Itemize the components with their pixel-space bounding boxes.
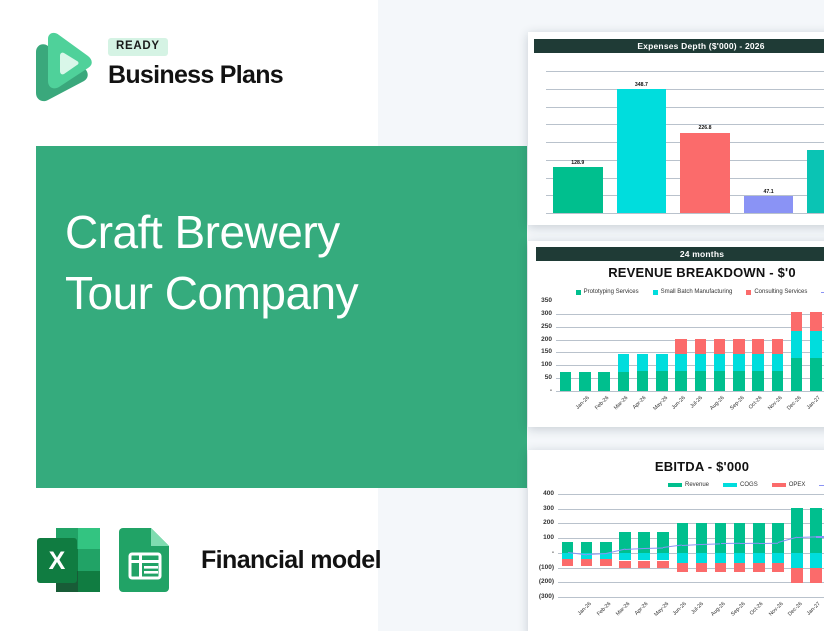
bar-segment <box>772 339 784 354</box>
bar-segment <box>791 508 802 553</box>
x-axis-tick-label: Apr-26 <box>634 601 650 617</box>
bar-segment <box>675 354 687 372</box>
y-axis-tick-label: 350 <box>530 297 552 304</box>
bar-segment <box>733 339 745 354</box>
trend-line-segment <box>644 547 663 549</box>
y-axis-tick-label: 300 <box>529 505 554 512</box>
y-axis-tick-label: 300 <box>530 310 552 317</box>
brand-logo: READY Business Plans <box>26 30 326 108</box>
revenue-chart-title: REVENUE BREAKDOWN - $'0 <box>536 265 824 280</box>
bar-segment <box>810 553 821 568</box>
x-axis-tick-label: Jul-26 <box>691 601 706 616</box>
bar-segment <box>619 561 630 568</box>
bar <box>680 133 730 214</box>
gridline <box>558 538 824 539</box>
bar-segment <box>715 563 726 572</box>
gridline <box>546 89 824 90</box>
bar-segment <box>734 523 745 553</box>
bar-segment <box>752 339 764 354</box>
legend-item: Consulting Services <box>746 289 807 295</box>
y-axis-tick-label: (100) <box>529 564 554 571</box>
legend-label: COGS <box>740 482 758 488</box>
gridline <box>558 568 824 569</box>
bar-segment <box>810 568 821 583</box>
bar-segment <box>791 358 803 391</box>
bar-segment <box>696 563 707 572</box>
trend-line-segment <box>701 543 720 545</box>
excel-file-icon: X <box>36 524 101 596</box>
x-axis-tick-label: Jul-26 <box>689 395 704 410</box>
bar-segment <box>656 371 668 391</box>
bar-segment <box>657 561 668 568</box>
bar-segment <box>714 371 726 391</box>
x-axis-tick-label: Dec-26 <box>787 601 804 618</box>
bar-segment <box>714 354 726 372</box>
gridline <box>558 582 824 583</box>
y-axis-tick-label: 250 <box>530 323 552 330</box>
x-axis-tick-label: Oct-26 <box>748 395 764 411</box>
svg-text:X: X <box>49 547 66 575</box>
expenses-plot-area: 128.9348.7226.847.1176.5 <box>538 59 824 219</box>
legend-label: Small Batch Manufacturing <box>661 289 733 295</box>
x-axis-tick-label: Jan-27 <box>805 395 821 411</box>
gridline <box>558 494 824 495</box>
gridline <box>556 314 824 315</box>
bar-segment <box>618 354 630 372</box>
bar-segment <box>638 532 649 553</box>
bar-segment <box>791 568 802 583</box>
y-axis-tick-label: 200 <box>530 336 552 343</box>
bar-segment <box>637 354 649 372</box>
gridline <box>546 107 824 108</box>
bar-segment <box>791 331 803 358</box>
ebitda-legend: RevenueCOGSOPEX0 <box>668 479 824 491</box>
page-title-line2: Tour Company <box>65 263 505 324</box>
legend-item: Small Batch Manufacturing <box>653 289 733 295</box>
play-logo-icon <box>26 32 92 104</box>
revenue-plot-area: 35030025020015010050-Jan-26Feb-26Mar-26A… <box>556 299 824 399</box>
bar-segment <box>753 563 764 572</box>
x-axis-tick-label: Sep-26 <box>729 395 746 412</box>
bar-segment <box>677 563 688 572</box>
y-axis-tick-label: 100 <box>530 361 552 368</box>
bar-segment <box>581 542 592 553</box>
bar-segment <box>619 553 630 561</box>
gridline <box>558 597 824 598</box>
y-axis-tick-label: (200) <box>529 578 554 585</box>
bar-segment <box>753 523 764 553</box>
legend-label: Prototyping Services <box>584 289 639 295</box>
bar-segment <box>810 312 822 331</box>
legend-item: 0 <box>819 482 824 488</box>
bar-value-label: 176.5 <box>807 143 824 149</box>
y-axis-tick-label: 200 <box>529 519 554 526</box>
bar-segment <box>772 523 783 553</box>
bar-segment <box>715 553 726 563</box>
bar-segment <box>733 371 745 391</box>
y-axis-tick-label: (300) <box>529 593 554 600</box>
bar <box>807 150 824 213</box>
y-axis-tick-label: 150 <box>530 348 552 355</box>
x-axis-tick-label: Nov-26 <box>767 395 784 412</box>
x-axis-tick-label: Mar-26 <box>613 395 629 411</box>
gridline <box>546 71 824 72</box>
bar-segment <box>600 559 611 565</box>
bar-segment <box>772 553 783 563</box>
bar-segment <box>734 553 745 563</box>
trend-line-segment <box>816 536 824 537</box>
bar-segment <box>638 553 649 561</box>
bar-segment <box>677 553 688 563</box>
bar-segment <box>791 553 802 568</box>
expenses-chart-header: Expenses Depth ($'000) - 2026 <box>534 39 824 53</box>
ebitda-chart-title: EBITDA - $'000 <box>536 459 824 474</box>
x-axis-tick-label: Jun-26 <box>671 395 687 411</box>
bar-segment <box>696 553 707 563</box>
brand-text-block: READY Business Plans <box>108 36 283 88</box>
x-axis-tick-label: Mar-26 <box>615 601 631 617</box>
chart-card-ebitda: EBITDA - $'000 RevenueCOGSOPEX0 40030020… <box>528 450 824 631</box>
gridline <box>556 352 824 353</box>
y-axis-tick-label: - <box>530 387 552 394</box>
bar-segment <box>810 331 822 358</box>
x-axis-tick-label: Jan-27 <box>806 601 822 617</box>
x-axis-tick-label: Jan-26 <box>576 601 592 617</box>
bar-segment <box>695 354 707 372</box>
brand-name: Business Plans <box>108 63 283 88</box>
bar-segment <box>675 371 687 391</box>
x-axis-tick-label: Jan-26 <box>574 395 590 411</box>
page-title: Craft Brewery Tour Company <box>65 202 505 324</box>
x-axis-tick-label: May-26 <box>653 601 670 618</box>
bar-segment <box>618 372 630 391</box>
bar-segment <box>733 354 745 372</box>
gridline <box>546 213 824 214</box>
gridline <box>556 378 824 379</box>
bar <box>744 196 794 213</box>
gridline <box>556 327 824 328</box>
x-axis-tick-label: Nov-26 <box>768 601 785 618</box>
x-axis-tick-label: Apr-26 <box>632 395 648 411</box>
page-title-line1: Craft Brewery <box>65 206 340 258</box>
legend-swatch <box>772 483 786 487</box>
bar-segment <box>657 553 668 561</box>
gridline <box>558 509 824 510</box>
bar-segment <box>562 559 573 565</box>
bar-value-label: 226.8 <box>680 125 730 131</box>
legend-item: Prototyping Services <box>576 289 639 295</box>
bar-segment <box>638 561 649 568</box>
bar-segment <box>657 532 668 553</box>
bar-segment <box>752 371 764 391</box>
x-axis-tick-label: Feb-26 <box>594 395 610 411</box>
bar-segment <box>656 354 668 372</box>
bar-segment <box>714 339 726 354</box>
bar-segment <box>810 508 821 553</box>
ready-badge: READY <box>108 38 168 56</box>
bar-segment <box>791 312 803 331</box>
bar <box>617 89 667 213</box>
gridline <box>556 365 824 366</box>
bar-segment <box>772 354 784 372</box>
legend-label: OPEX <box>789 482 806 488</box>
bar-segment <box>715 523 726 553</box>
bar-segment <box>772 563 783 572</box>
legend-swatch <box>668 483 682 487</box>
trend-line-segment <box>759 542 778 544</box>
bar-value-label: 348.7 <box>617 82 667 88</box>
x-axis-tick-label: Feb-26 <box>596 601 612 617</box>
bar-value-label: 47.1 <box>744 189 794 195</box>
y-axis-tick-label: 100 <box>529 534 554 541</box>
bar-segment <box>581 559 592 565</box>
legend-swatch <box>723 483 737 487</box>
bar-value-label: 128.9 <box>553 160 603 166</box>
poster-canvas: READY Business Plans Craft Brewery Tour … <box>0 0 824 631</box>
bar-segment <box>560 372 572 391</box>
legend-item: Revenue <box>668 482 709 488</box>
x-axis-tick-label: Oct-26 <box>748 601 764 617</box>
legend-label: Revenue <box>685 482 709 488</box>
revenue-legend: Prototyping ServicesSmall Batch Manufact… <box>548 286 824 298</box>
google-sheets-icon <box>115 524 177 596</box>
bar-segment <box>695 339 707 354</box>
bar-segment <box>753 553 764 563</box>
x-axis-tick-label: May-26 <box>652 395 669 412</box>
gridline <box>558 523 824 524</box>
bar-segment <box>810 358 822 391</box>
bar <box>553 167 603 213</box>
revenue-chart-header: 24 months <box>536 247 824 261</box>
footer-label: Financial model <box>201 546 381 575</box>
bar-segment <box>695 371 707 391</box>
bar-segment <box>598 372 610 391</box>
hero-panel: Craft Brewery Tour Company <box>36 146 527 488</box>
y-axis-tick-label: 50 <box>530 374 552 381</box>
legend-item: OPEX <box>772 482 806 488</box>
x-axis-tick-label: Aug-26 <box>709 395 726 412</box>
bar-segment <box>772 371 784 391</box>
bar-segment <box>675 339 687 354</box>
ebitda-plot-area: 400300200100-(100)(200)(300)Jan-26Feb-26… <box>558 492 824 607</box>
x-axis-tick-label: Dec-26 <box>786 395 803 412</box>
legend-label: Consulting Services <box>754 289 807 295</box>
gridline <box>556 391 824 392</box>
bar-segment <box>677 523 688 553</box>
legend-swatch <box>576 290 581 295</box>
y-axis-tick-label: 400 <box>529 490 554 497</box>
bar-segment <box>752 354 764 372</box>
x-axis-tick-label: Jun-26 <box>672 601 688 617</box>
legend-item: COGS <box>723 482 758 488</box>
chart-card-revenue: 24 months REVENUE BREAKDOWN - $'0 Protot… <box>528 241 824 427</box>
bar-segment <box>579 372 591 391</box>
footer-row: X Financial model <box>36 519 381 601</box>
bar-segment <box>696 523 707 553</box>
legend-swatch <box>819 485 824 486</box>
x-axis-tick-label: Sep-26 <box>730 601 747 618</box>
trend-line-segment <box>740 543 759 545</box>
bar-segment <box>734 563 745 572</box>
y-axis-tick-label: - <box>529 549 554 556</box>
x-axis-tick-label: Aug-26 <box>711 601 728 618</box>
bar-segment <box>637 371 649 391</box>
legend-swatch <box>653 290 658 295</box>
gridline <box>556 340 824 341</box>
chart-card-expenses: Expenses Depth ($'000) - 2026 128.9348.7… <box>528 32 824 225</box>
legend-swatch <box>746 290 751 295</box>
